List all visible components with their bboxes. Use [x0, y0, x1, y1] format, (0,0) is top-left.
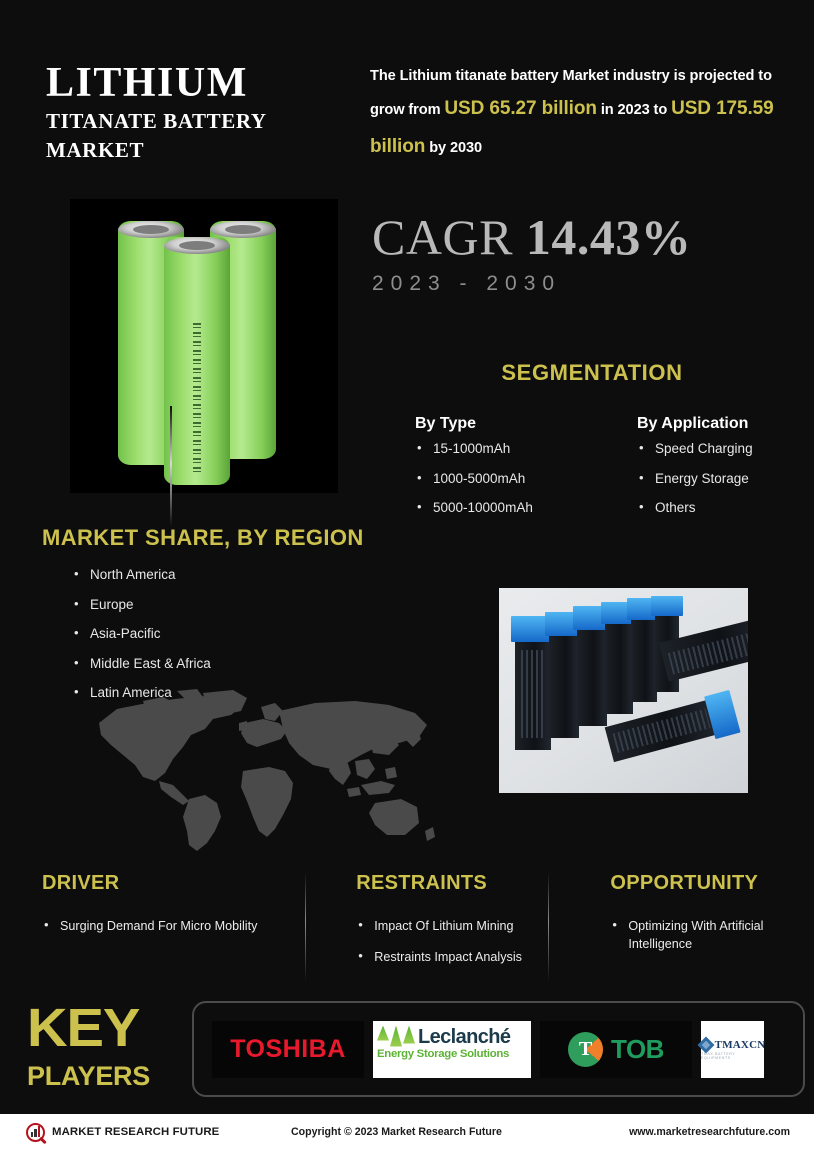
mountains-icon: [377, 1026, 415, 1047]
segmentation-heading: By Type: [415, 415, 605, 433]
list-item: North America: [72, 568, 332, 582]
market-factors-section: DRIVER Surging Demand For Micro Mobility…: [42, 872, 782, 980]
footer-copyright: Copyright © 2023 Market Research Future: [291, 1126, 502, 1138]
world-map: [55, 685, 455, 855]
footer-brand-name: MARKET RESEARCH FUTURE: [52, 1126, 219, 1138]
magnifier-chart-icon: [26, 1123, 45, 1142]
factor-heading: OPPORTUNITY: [610, 872, 782, 895]
logo-tob[interactable]: TOB: [540, 1021, 692, 1078]
segmentation-divider: [170, 406, 172, 526]
world-map-landmasses: [99, 689, 435, 851]
list-item: Asia-Pacific: [72, 627, 332, 641]
list-item: Restraints Impact Analysis: [356, 948, 563, 966]
list-item: 5000-10000mAh: [415, 501, 605, 515]
title-line-3: MARKET: [46, 138, 356, 164]
module-slab: [605, 620, 633, 714]
module-slab: [549, 632, 579, 738]
segmentation-list: 15-1000mAh 1000-5000mAh 5000-10000mAh: [415, 442, 605, 515]
list-item: Others: [637, 501, 795, 515]
page-title: LITHIUM TITANATE BATTERY MARKET: [46, 62, 356, 164]
list-item: Europe: [72, 598, 332, 612]
logo-toshiba-text: TOSHIBA: [230, 1035, 346, 1064]
footer: MARKET RESEARCH FUTURE Copyright © 2023 …: [0, 1114, 814, 1150]
logo-leclanche-subtitle: Energy Storage Solutions: [377, 1049, 527, 1060]
segmentation-column-by-type: By Type 15-1000mAh 1000-5000mAh 5000-100…: [415, 415, 605, 531]
factor-heading: DRIVER: [42, 872, 316, 895]
battery-module-photo: [499, 588, 748, 793]
cell-terminal-icon: [164, 237, 230, 254]
logo-tmaxcn[interactable]: TMAXCN TMAX BATTERY EQUIPMENTS: [701, 1021, 764, 1078]
header-section: LITHIUM TITANATE BATTERY MARKET The Lith…: [0, 0, 814, 195]
key-players-line-1: KEY: [27, 1004, 183, 1054]
factor-list: Impact Of Lithium Mining Restraints Impa…: [356, 917, 563, 967]
cagr-line: CAGR 14.43%: [372, 212, 812, 262]
footer-url[interactable]: www.marketresearchfuture.com: [629, 1126, 790, 1138]
list-item: 15-1000mAh: [415, 442, 605, 456]
list-item: Middle East & Africa: [72, 657, 332, 671]
list-item: Surging Demand For Micro Mobility: [42, 917, 316, 935]
factor-column-restraints: RESTRAINTS Impact Of Lithium Mining Rest…: [316, 872, 563, 980]
logo-leclanche-top: Leclanché: [377, 1026, 527, 1047]
barcode-icon: [193, 323, 201, 473]
intro-paragraph: The Lithium titanate battery Market indu…: [370, 62, 808, 165]
module-connector: [651, 596, 683, 616]
footer-brand: MARKET RESEARCH FUTURE: [26, 1123, 219, 1142]
key-players-line-2: PLAYERS: [27, 1063, 177, 1090]
battery-cell-front: [164, 237, 230, 485]
cell-terminal-icon: [118, 221, 184, 238]
factor-column-driver: DRIVER Surging Demand For Micro Mobility: [42, 872, 316, 980]
tob-globe-icon: [568, 1032, 603, 1067]
module-vents: [521, 650, 545, 738]
cell-terminal-icon: [210, 221, 276, 238]
list-item: Optimizing With Artificial Intelligence: [610, 917, 782, 954]
key-players-logo-box: TOSHIBA Leclanché Energy Storage Solutio…: [192, 1001, 805, 1097]
diamond-icon: [697, 1036, 714, 1053]
intro-value-2023: USD 65.27 billion: [444, 98, 596, 119]
title-line-2: TITANATE BATTERY: [46, 109, 356, 135]
factor-heading: RESTRAINTS: [356, 872, 563, 895]
segmentation-column-by-application: By Application Speed Charging Energy Sto…: [605, 415, 795, 531]
cagr-block: CAGR 14.43% 2023 - 2030: [372, 212, 812, 296]
market-share-title: MARKET SHARE, BY REGION: [42, 525, 364, 551]
logo-leclanche[interactable]: Leclanché Energy Storage Solutions: [373, 1021, 531, 1078]
logo-tmaxcn-text: TMAXCN: [715, 1039, 766, 1051]
intro-part-3: by 2030: [425, 140, 482, 156]
logo-leclanche-text: Leclanché: [418, 1028, 510, 1047]
factor-list: Optimizing With Artificial Intelligence: [610, 917, 782, 954]
segmentation-heading: By Application: [637, 415, 795, 433]
list-item: Impact Of Lithium Mining: [356, 917, 563, 935]
factor-list: Surging Demand For Micro Mobility: [42, 917, 316, 935]
list-item: Energy Storage: [637, 472, 795, 486]
logo-tmaxcn-subtitle: TMAX BATTERY EQUIPMENTS: [701, 1052, 764, 1060]
segmentation-title: SEGMENTATION: [372, 360, 812, 386]
key-players-label: KEY PLAYERS: [27, 1004, 177, 1090]
title-line-1: LITHIUM: [46, 62, 356, 105]
list-item: Speed Charging: [637, 442, 795, 456]
logo-toshiba[interactable]: TOSHIBA: [212, 1021, 364, 1078]
cagr-period: 2023 - 2030: [372, 272, 812, 296]
logo-tmaxcn-row: TMAXCN: [700, 1039, 766, 1051]
cagr-label: CAGR: [372, 209, 513, 265]
module-slab: [631, 614, 657, 702]
segmentation-columns: By Type 15-1000mAh 1000-5000mAh 5000-100…: [415, 415, 814, 531]
battery-cells-photo: [70, 199, 338, 493]
segmentation-list: Speed Charging Energy Storage Others: [637, 442, 795, 515]
cagr-value: 14.43%: [526, 209, 692, 265]
list-item: 1000-5000mAh: [415, 472, 605, 486]
intro-part-2: in 2023 to: [597, 102, 671, 118]
factor-column-opportunity: OPPORTUNITY Optimizing With Artificial I…: [563, 872, 782, 980]
logo-tob-text: TOB: [611, 1034, 664, 1065]
module-slab: [577, 626, 607, 726]
